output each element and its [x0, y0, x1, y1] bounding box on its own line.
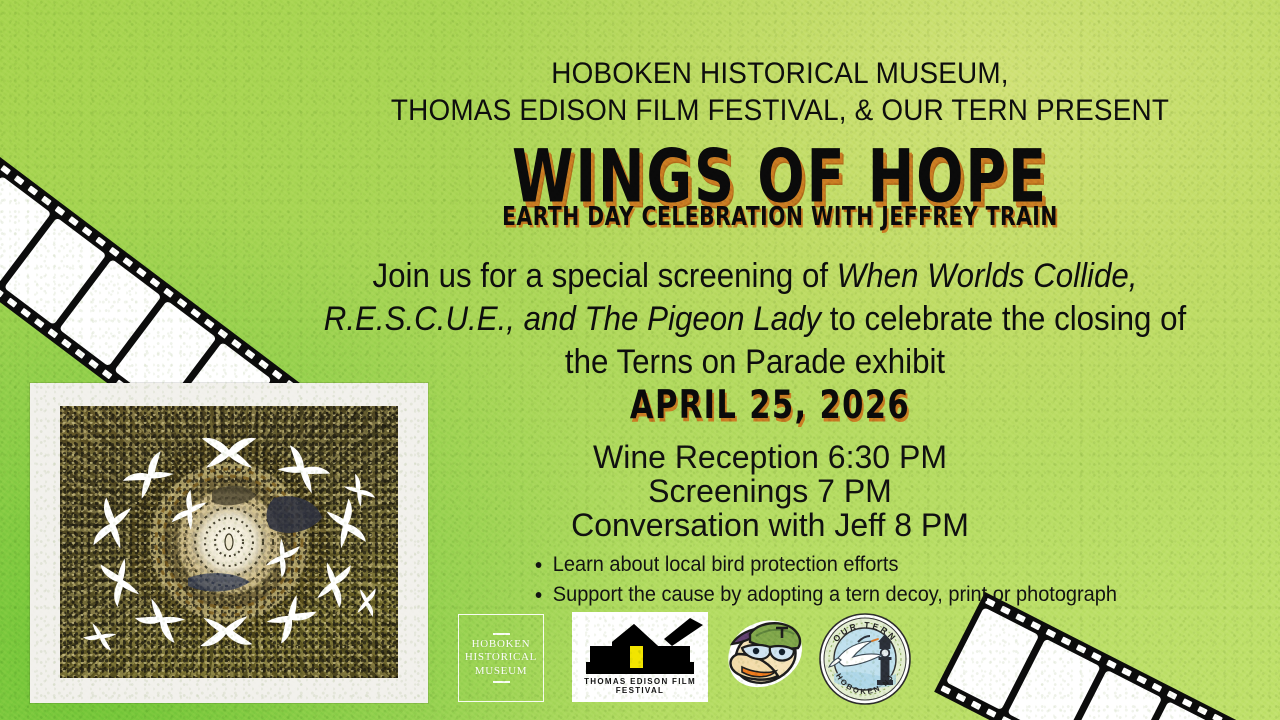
artwork-print-plate: [60, 406, 398, 678]
hhm-line-3: MUSEUM: [465, 665, 537, 678]
our-tern-badge-icon: OUR TERN HOBOKEN NJ: [818, 612, 912, 706]
film-strip-bottom-right-decoration: [934, 592, 1280, 720]
partner-logos: HOBOKEN HISTORICAL MUSEUM THOMAS EDISON …: [450, 610, 930, 710]
poster-subtitle: EARTH DAY CELEBRATION WITH JEFFREY TRAIN: [375, 205, 1185, 231]
logo-rule-top: [493, 633, 510, 635]
description-lead: Join us for a special screening of: [373, 257, 837, 295]
hhm-line-2: HISTORICAL: [465, 651, 537, 664]
artwork-bird-silhouettes: [60, 406, 398, 678]
black-maria-studio-icon: [572, 612, 708, 684]
tedff-logo-caption: THOMAS EDISON FILM FESTIVAL: [572, 677, 708, 695]
event-poster: HOBOKEN HISTORICAL MUSEUM, THOMAS EDISON…: [0, 0, 1280, 720]
schedule-line-screenings: Screenings 7 PM: [430, 474, 1110, 508]
list-item: Learn about local bird protection effort…: [530, 550, 1233, 580]
event-description: Join us for a special screening of When …: [318, 255, 1192, 383]
event-schedule: Wine Reception 6:30 PM Screenings 7 PM C…: [430, 440, 1110, 543]
presenters-line-2: THOMAS EDISON FILM FESTIVAL, & OUR TERN …: [334, 93, 1227, 130]
presenters-line-1: HOBOKEN HISTORICAL MUSEUM,: [334, 56, 1227, 93]
duck-mascot-icon: [724, 614, 808, 702]
hhm-line-1: HOBOKEN: [465, 638, 537, 651]
schedule-line-conversation: Conversation with Jeff 8 PM: [430, 508, 1110, 542]
list-item: Support the cause by adopting a tern dec…: [530, 580, 1233, 610]
event-date: APRIL 25, 2026: [455, 386, 1085, 425]
duck-mascot-logo[interactable]: [724, 614, 808, 702]
our-tern-logo[interactable]: OUR TERN HOBOKEN NJ: [818, 612, 912, 706]
artwork-image: [30, 383, 428, 703]
event-highlights-list: Learn about local bird protection effort…: [530, 550, 1233, 610]
schedule-line-wine-reception: Wine Reception 6:30 PM: [430, 440, 1110, 474]
presenters-line: HOBOKEN HISTORICAL MUSEUM, THOMAS EDISON…: [334, 56, 1227, 129]
hoboken-historical-museum-logo[interactable]: HOBOKEN HISTORICAL MUSEUM: [458, 614, 544, 702]
thomas-edison-film-festival-logo[interactable]: THOMAS EDISON FILM FESTIVAL: [572, 612, 708, 702]
hhm-logo-text: HOBOKEN HISTORICAL MUSEUM: [465, 638, 537, 678]
logo-rule-bottom: [493, 681, 510, 683]
